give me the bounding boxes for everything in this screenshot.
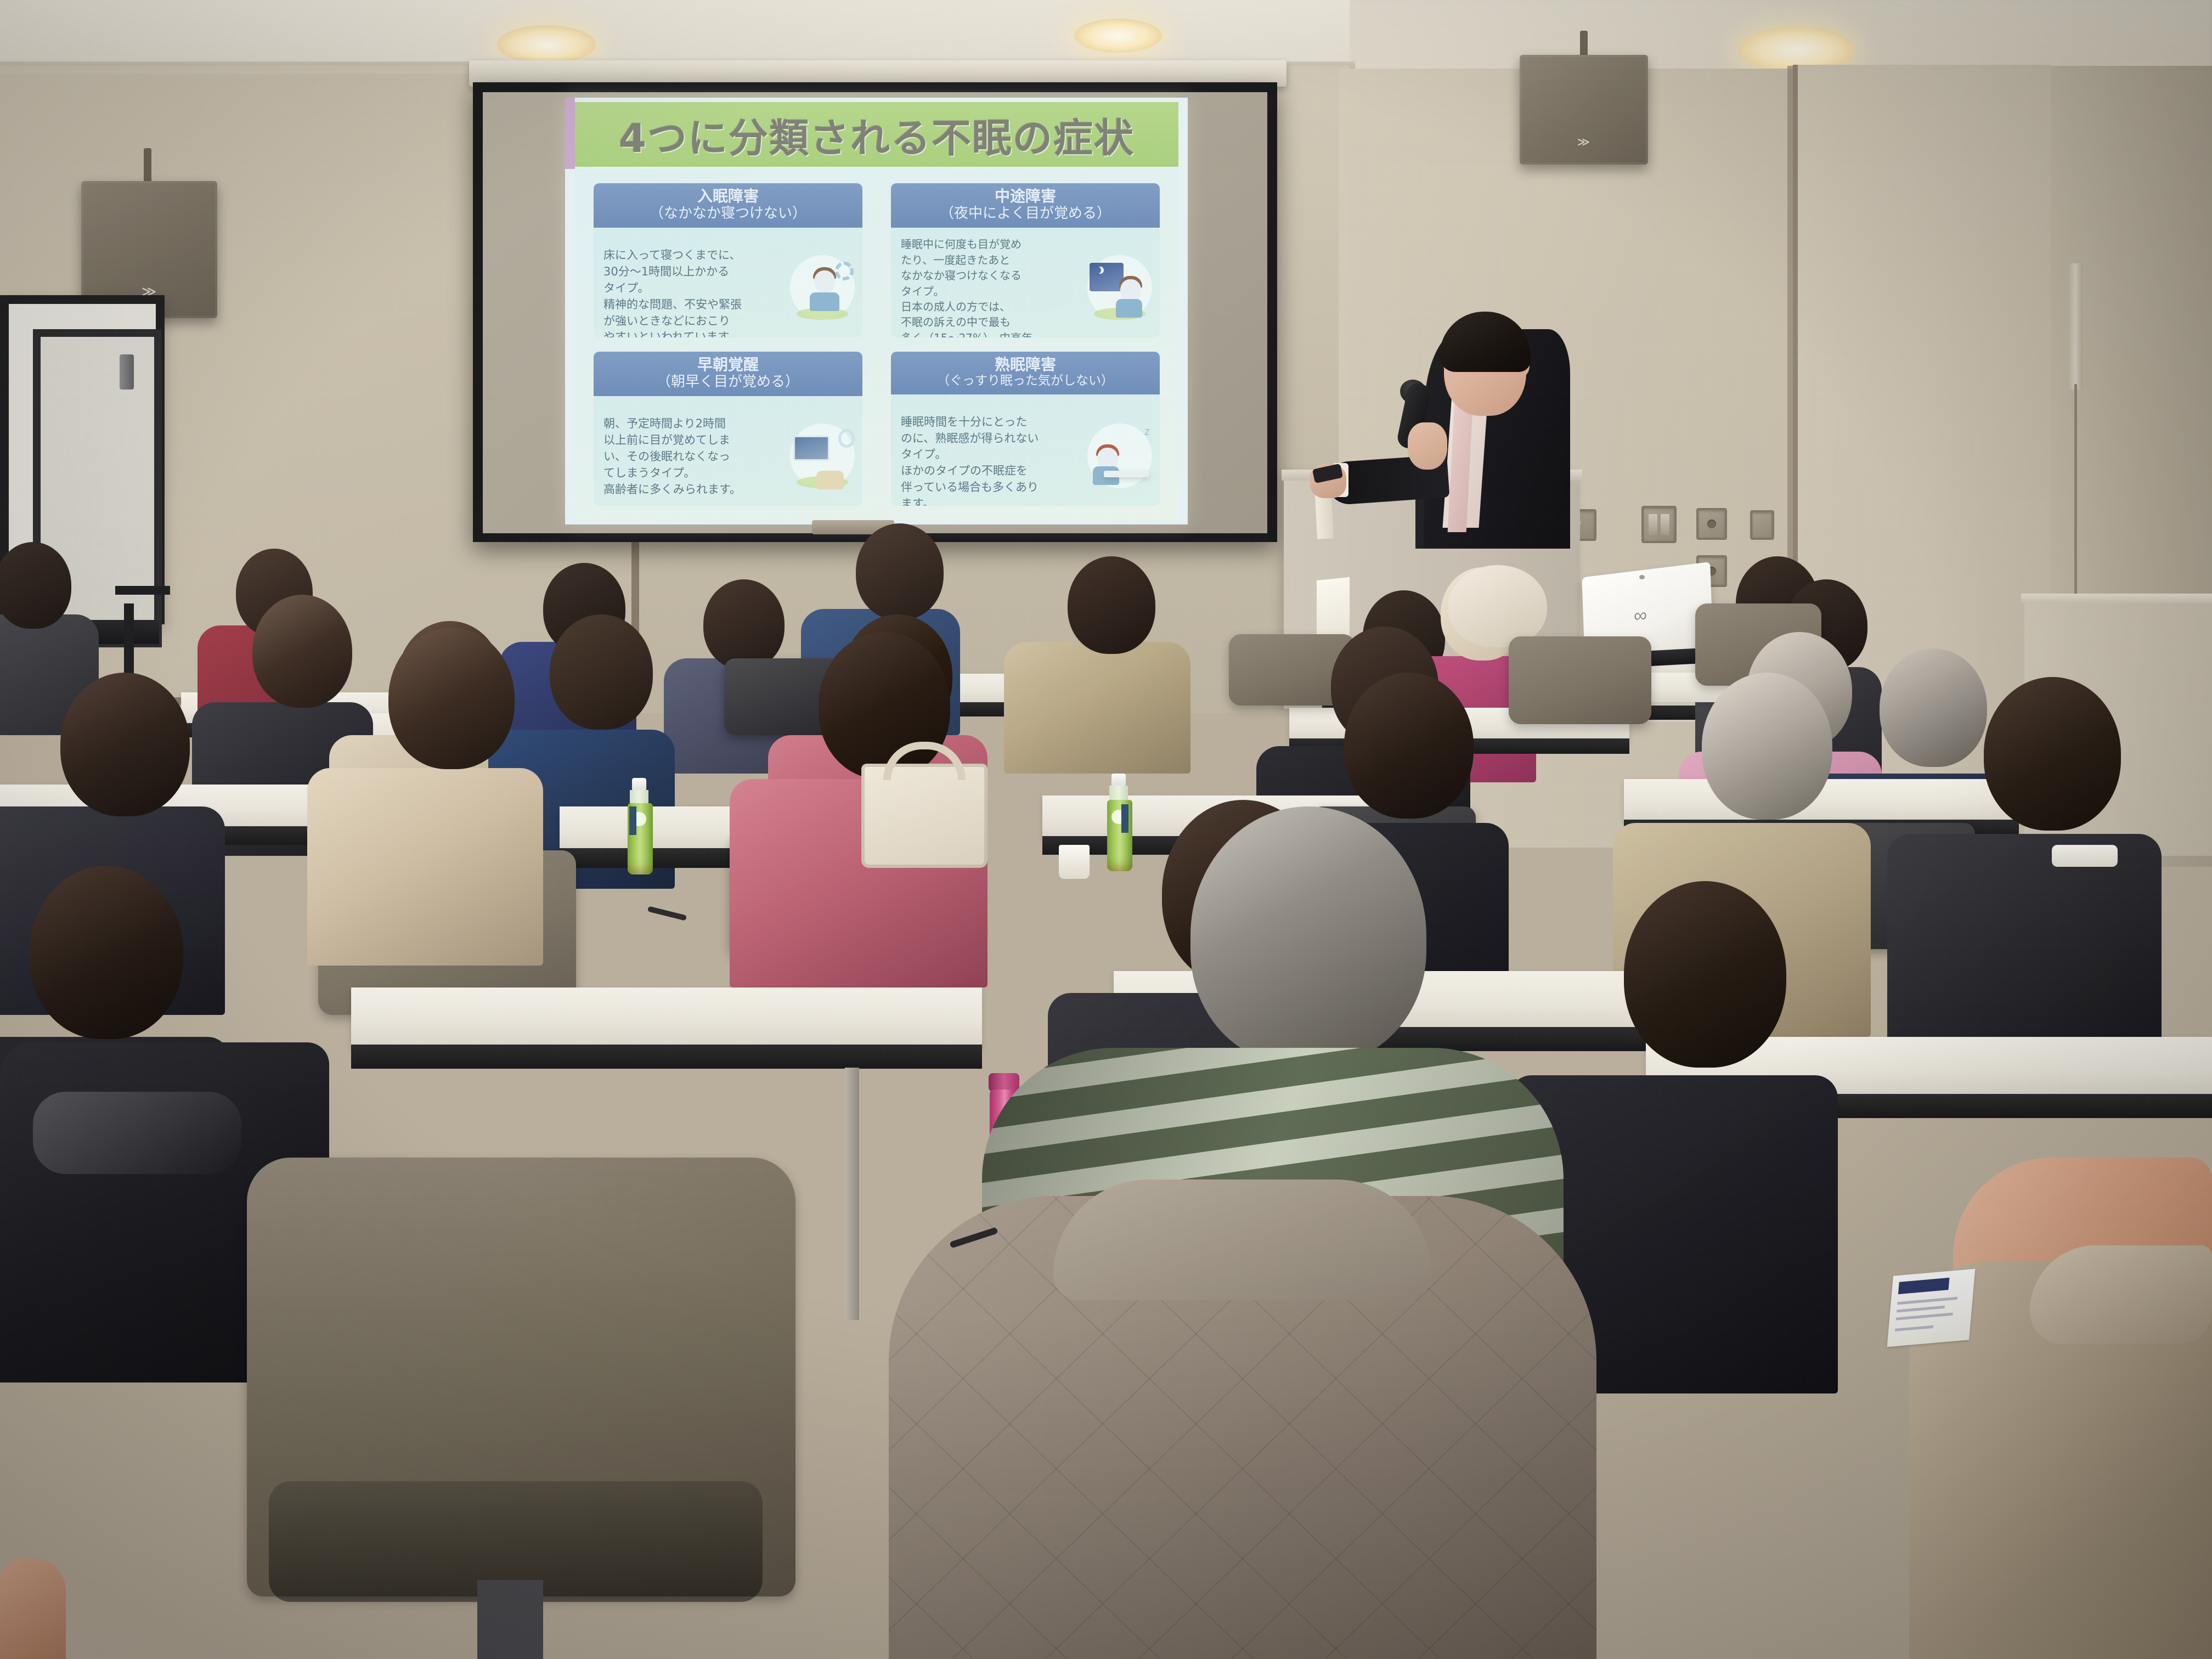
outlet-plate[interactable] bbox=[1696, 508, 1727, 540]
handout-line bbox=[1895, 1325, 1933, 1331]
right-cabinet-top bbox=[2021, 594, 2212, 603]
pen[interactable] bbox=[647, 906, 687, 921]
wall-speaker-right: ≫ bbox=[1520, 55, 1648, 165]
laptop-webcam-icon bbox=[1639, 575, 1645, 579]
panel-body-text: 朝、予定時間より2時間 以上前に目が覚めてしま い、その後眠れなくなっ てしまう… bbox=[594, 396, 771, 503]
chair-post bbox=[477, 1580, 543, 1659]
attendee-hat bbox=[1448, 565, 1547, 647]
bottle-neck bbox=[1109, 786, 1128, 800]
bottle-side-tab bbox=[1121, 804, 1128, 833]
downlight-glow bbox=[1074, 19, 1162, 53]
door-closer-rod bbox=[2074, 384, 2077, 614]
paper-cup bbox=[1059, 845, 1090, 879]
speaker-logo: ≫ bbox=[1520, 135, 1648, 149]
chair[interactable] bbox=[1509, 636, 1651, 724]
person-worried-icon bbox=[790, 252, 856, 323]
handout-line bbox=[1897, 1306, 1945, 1313]
panel-subheading: （なかなか寝つけない） bbox=[597, 205, 859, 222]
presenter-hand-holding-mic bbox=[1408, 422, 1447, 470]
panel-subheading: （夜中によく目が覚める） bbox=[894, 205, 1156, 222]
slide-panel-middle-awakening: 中途障害 （夜中によく目が覚める） 睡眠中に何度も目が覚め たり、一度起きたあと… bbox=[891, 183, 1160, 337]
jacket-highlight bbox=[33, 1092, 241, 1174]
door-closer bbox=[2068, 263, 2083, 390]
projected-slide: 4つに分類される不眠の症状 入眠障害 （なかなか寝つけない） 床に入って寝つくま… bbox=[565, 98, 1188, 524]
slide-panel-header: 入眠障害 （なかなか寝つけない） bbox=[594, 183, 862, 228]
whiteboard-clip[interactable] bbox=[120, 354, 134, 390]
blank-plate bbox=[1750, 510, 1774, 540]
desk-leg bbox=[845, 1068, 859, 1320]
panel-heading: 入眠障害 bbox=[597, 188, 859, 205]
bottle-neck bbox=[630, 790, 648, 804]
slide-body: 入眠障害 （なかなか寝つけない） 床に入って寝つくまでに、 30分〜1時間以上か… bbox=[575, 169, 1178, 520]
green-tea-bottle[interactable] bbox=[1104, 774, 1137, 881]
light-switch[interactable] bbox=[1649, 514, 1657, 535]
face-mask-strap bbox=[2052, 845, 2118, 867]
thermos-lid bbox=[989, 1073, 1019, 1092]
coat-collar bbox=[2030, 1245, 2212, 1344]
bottle-cap bbox=[1111, 774, 1126, 787]
panel-body-text: 床に入って寝つくまでに、 30分〜1時間以上かかる タイプ。 精神的な問題、不安… bbox=[594, 228, 771, 337]
panel-body-text: 睡眠時間を十分にとった のに、熟眠感が得られない タイプ。 ほかのタイプの不眠症… bbox=[891, 394, 1068, 506]
near-row-desk bbox=[351, 988, 982, 1048]
laptop-brand-logo: ∞ bbox=[1634, 605, 1659, 627]
panel-subheading: （ぐっすり眠った気がしない） bbox=[894, 374, 1156, 389]
tv-morning-icon bbox=[790, 420, 856, 492]
handout-title-bar bbox=[1898, 1278, 1950, 1294]
slide-panel-sleep-onset: 入眠障害 （なかなか寝つけない） 床に入って寝つくまでに、 30分〜1時間以上か… bbox=[594, 183, 862, 337]
night-window-icon bbox=[1087, 252, 1153, 323]
slide-panel-early-waking: 早朝覚醒 （朝早く目が覚める） 朝、予定時間より2時間 以上前に目が覚めてしま … bbox=[594, 352, 862, 506]
handout-line bbox=[1897, 1297, 1957, 1305]
downlight-glow bbox=[497, 25, 596, 64]
panel-body-text: 睡眠中に何度も目が覚め たり、一度起きたあと なかなか寝つけなくなる タイプ。 … bbox=[891, 228, 1068, 337]
panel-subheading: （朝早く目が覚める） bbox=[597, 374, 859, 391]
light-switch[interactable] bbox=[1661, 514, 1669, 535]
desk-edge bbox=[351, 1045, 982, 1069]
attendee-far-left-arm bbox=[0, 1558, 66, 1659]
slide-panel-nonrestorative: 熟眠障害 （ぐっすり眠った気がしない） 睡眠時間を十分にとった のに、熟眠感が得… bbox=[891, 352, 1160, 506]
tired-at-desk-icon: z bbox=[1087, 420, 1153, 492]
seminar-room-photo: ≫ ≫ AV 4つに分類される不眠の症状 入眠障害 bbox=[0, 0, 2212, 1659]
bottle-side-tab bbox=[629, 806, 636, 835]
handout-line bbox=[1896, 1313, 1953, 1321]
slide-panel-header: 熟眠障害 （ぐっすり眠った気がしない） bbox=[891, 352, 1160, 394]
green-tea-bottle[interactable] bbox=[624, 778, 657, 882]
outlet-icon bbox=[1707, 520, 1716, 528]
panel-heading: 早朝覚醒 bbox=[597, 356, 859, 374]
paper-handout[interactable] bbox=[1887, 1269, 1976, 1347]
switch-plate[interactable] bbox=[1641, 506, 1677, 543]
slide-panel-header: 早朝覚醒 （朝早く目が覚める） bbox=[594, 352, 862, 396]
whiteboard-stand-arm bbox=[115, 586, 170, 595]
slide-title-band: 4つに分類される不眠の症状 bbox=[575, 102, 1178, 167]
bottle-cap bbox=[632, 778, 646, 791]
slide-accent-bar bbox=[565, 98, 575, 169]
quilted-coat-collar bbox=[1053, 1180, 1432, 1300]
slide-title: 4つに分類される不眠の症状 bbox=[619, 106, 1135, 163]
panel-heading: 熟眠障害 bbox=[894, 356, 1156, 374]
slide-panel-header: 中途障害 （夜中によく目が覚める） bbox=[891, 183, 1160, 228]
attendee-head bbox=[1190, 806, 1426, 1064]
panel-heading: 中途障害 bbox=[894, 188, 1156, 205]
